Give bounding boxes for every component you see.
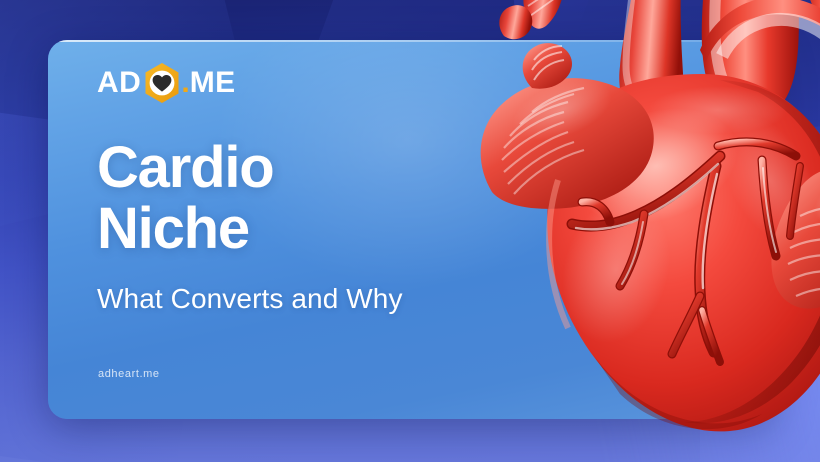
logo-text-ad: AD <box>97 68 141 98</box>
subheadline: What Converts and Why <box>97 283 403 315</box>
headline-line-2: Niche <box>97 198 274 259</box>
heart-in-hexagon-icon <box>142 61 182 105</box>
headline-line-1: Cardio <box>97 135 274 200</box>
site-label: adheart.me <box>98 368 160 380</box>
brand-logo[interactable]: AD . ME <box>97 63 236 103</box>
card-top-highlight <box>48 40 774 42</box>
headline: Cardio Niche <box>97 137 274 260</box>
logo-dot: . <box>181 68 189 98</box>
creative-card: AD . ME Cardio Niche What Converts and W… <box>48 40 774 419</box>
logo-text-me: ME <box>190 68 236 98</box>
